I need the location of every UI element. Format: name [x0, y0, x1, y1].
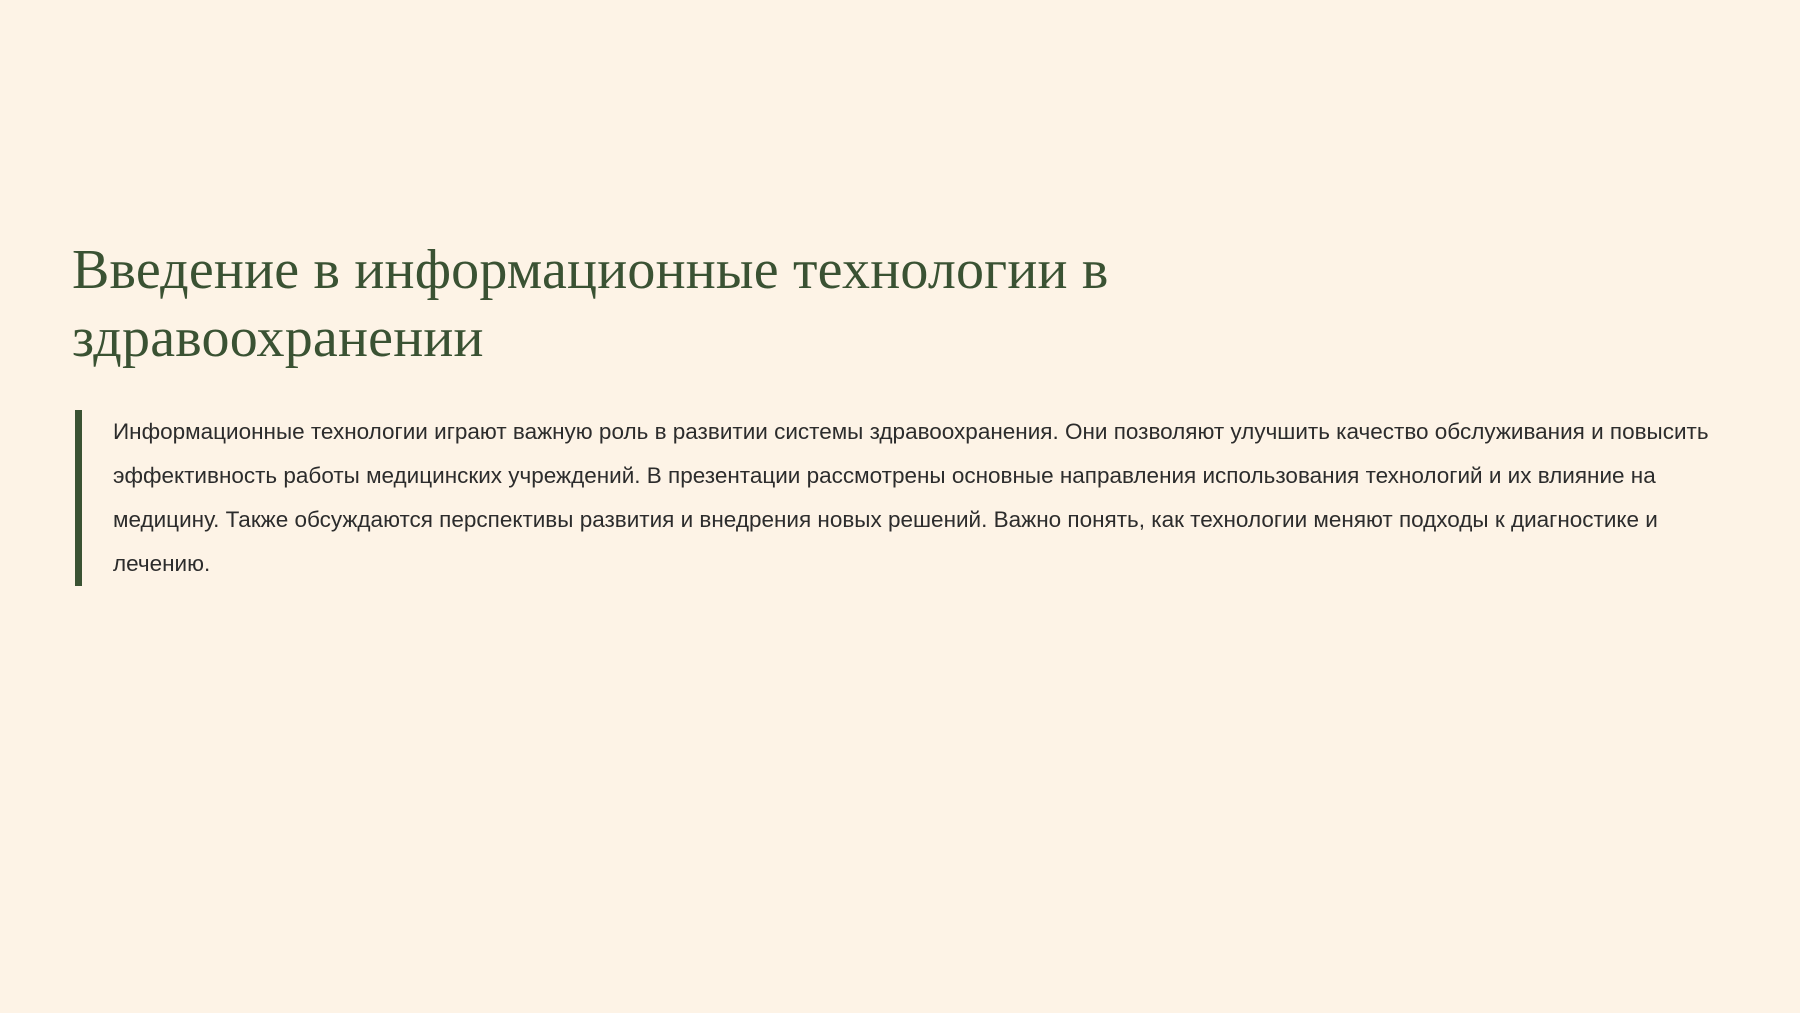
- presentation-slide: Введение в информационные технологии в з…: [0, 0, 1800, 1013]
- accent-bar: [75, 410, 82, 586]
- page-title: Введение в информационные технологии в з…: [72, 236, 1332, 373]
- slide-content: Введение в информационные технологии в з…: [72, 236, 1762, 586]
- body-quote-block: Информационные технологии играют важную …: [72, 410, 1752, 586]
- body-paragraph: Информационные технологии играют важную …: [82, 410, 1752, 586]
